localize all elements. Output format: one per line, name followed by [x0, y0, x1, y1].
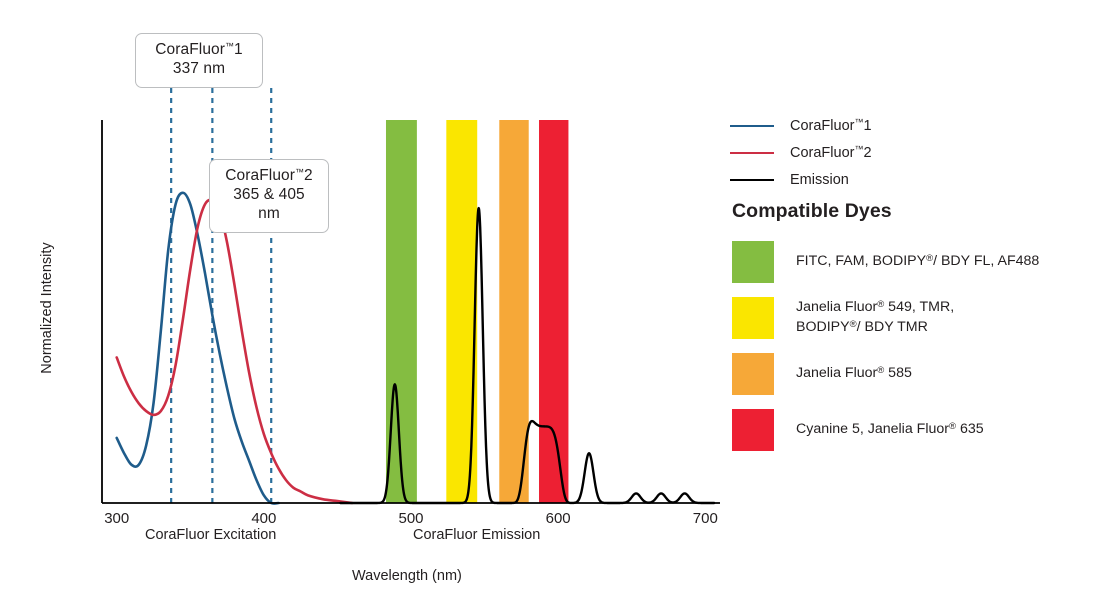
plot-area: 300400500600700 CoraFluor™1 337 nm CoraF…	[0, 0, 730, 612]
x-tick-label: 400	[251, 510, 276, 527]
red-band	[539, 120, 568, 503]
compatible-dyes-list: FITC, FAM, BODIPY®/ BDY FL, AF488Janelia…	[732, 234, 1108, 458]
yellow-band	[446, 120, 477, 503]
x-tick-label: 300	[104, 510, 129, 527]
legend-line-swatch	[730, 179, 774, 181]
chart-figure: 300400500600700 CoraFluor™1 337 nm CoraF…	[0, 0, 1110, 612]
x-axis-title: Wavelength (nm)	[352, 568, 462, 584]
legend-item-label: CoraFluor™1	[790, 117, 872, 134]
legend-line-swatch	[730, 152, 774, 154]
callout-1-title: CoraFluor™1	[155, 41, 243, 58]
legend-item: CoraFluor™2	[730, 139, 1090, 166]
dye-item: FITC, FAM, BODIPY®/ BDY FL, AF488	[732, 234, 1108, 290]
curve-corafluor2	[117, 200, 352, 503]
y-axis-title: Normalized Intensity	[39, 228, 55, 388]
dye-item: Janelia Fluor® 585	[732, 346, 1108, 402]
callout-2-title: CoraFluor™2	[225, 167, 313, 184]
compatible-dyes-heading: Compatible Dyes	[732, 200, 892, 223]
legend-item: Emission	[730, 166, 1090, 193]
callout-corafluor2: CoraFluor™2 365 & 405 nm	[209, 159, 329, 233]
curve-corafluor1	[117, 193, 279, 504]
excitation-section-label: CoraFluor Excitation	[145, 527, 276, 543]
spectra-plot: 300400500600700	[0, 0, 730, 612]
dye-color-swatch	[732, 297, 774, 339]
x-tick-label: 500	[398, 510, 423, 527]
callout-1-value: 337 nm	[148, 60, 250, 79]
callout-corafluor1: CoraFluor™1 337 nm	[135, 33, 263, 88]
legend-item-label: CoraFluor™2	[790, 144, 872, 161]
dye-item-label: FITC, FAM, BODIPY®/ BDY FL, AF488	[796, 252, 1039, 272]
dye-color-swatch	[732, 353, 774, 395]
legend-panel: CoraFluor™1CoraFluor™2Emission Compatibl…	[730, 0, 1110, 612]
legend-line-swatch	[730, 125, 774, 127]
x-tick-label: 600	[546, 510, 571, 527]
dye-item: Janelia Fluor® 549, TMR,BODIPY®/ BDY TMR	[732, 290, 1108, 346]
dye-item-label: Cyanine 5, Janelia Fluor® 635	[796, 420, 984, 440]
dye-item-label: Janelia Fluor® 585	[796, 364, 912, 384]
orange-band	[499, 120, 528, 503]
series-legend: CoraFluor™1CoraFluor™2Emission	[730, 112, 1090, 193]
emission-section-label: CoraFluor Emission	[413, 527, 540, 543]
dye-item: Cyanine 5, Janelia Fluor® 635	[732, 402, 1108, 458]
legend-item: CoraFluor™1	[730, 112, 1090, 139]
dye-item-label: Janelia Fluor® 549, TMR,BODIPY®/ BDY TMR	[796, 298, 954, 337]
legend-item-label: Emission	[790, 171, 849, 188]
callout-2-value: 365 & 405 nm	[222, 186, 316, 224]
dye-color-swatch	[732, 409, 774, 451]
dye-color-swatch	[732, 241, 774, 283]
x-tick-label: 700	[693, 510, 718, 527]
